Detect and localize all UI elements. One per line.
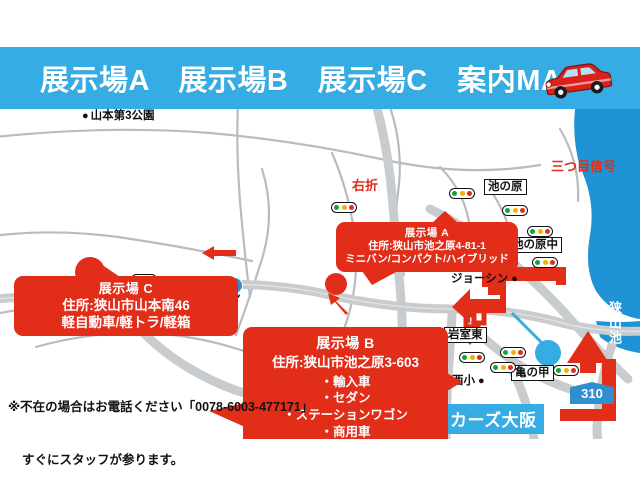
traffic-signal-west: [449, 188, 475, 199]
sayama-lake-shape: [574, 109, 640, 319]
route-310-shield: 310: [570, 382, 614, 404]
callout-showroom-a[interactable]: 展示場 A 住所:狭山市池之原4-81-1 ミニバン/コンパクト/ハイブリッド: [336, 222, 518, 272]
page-title: 展示場A 展示場B 展示場C 案内MAP: [40, 57, 582, 99]
note-line-2: すぐにスタッフが参ります。: [8, 452, 313, 470]
traffic-signal-iwamuro: [490, 362, 516, 373]
annotation-turn-right: 右折: [352, 175, 378, 194]
label-yamamoto-dai3-park: 山本第3公園: [82, 110, 155, 123]
traffic-signal-kamenoko: [553, 365, 579, 376]
red-car-icon: [538, 57, 616, 101]
annotation-third-signal: 三つ目信号: [551, 156, 616, 175]
callout-a-tail: [362, 271, 398, 285]
traffic-signal-ikenohara-naka-north: [527, 226, 553, 237]
callout-a-categories: ミニバン/コンパクト/ハイブリッド: [344, 253, 510, 266]
badge-cars-osaka[interactable]: カーズ大阪: [443, 404, 544, 434]
label-joshin: ジョーシン: [451, 273, 518, 286]
map-page: 展示場A 展示場B 展示場C 案内MAP: [0, 0, 640, 480]
arrow-west-small: [202, 246, 236, 260]
label-iwamuro-higashi: 岩室東: [444, 327, 487, 343]
callout-c-title: 展示場 C: [22, 281, 230, 297]
footer-notes: ※不在の場合はお電話ください「0078-6003-477171」 すぐにスタッフ…: [8, 363, 313, 480]
traffic-signal-post-office: [459, 352, 485, 363]
callout-c-categories: 軽自動車/軽トラ/軽箱: [22, 314, 230, 331]
traffic-signal-iwamuro-2: [500, 347, 526, 358]
traffic-signal-ikenohara-naka: [532, 257, 558, 268]
label-sayama-lake: 狭山池: [608, 301, 621, 346]
callout-a-title: 展示場 A: [344, 227, 510, 240]
callout-b-title: 展示場 B: [249, 335, 442, 353]
callout-a-tail-up: [432, 211, 458, 223]
header-banner: 展示場A 展示場B 展示場C 案内MAP: [0, 47, 640, 109]
callout-c-tail-up: [76, 262, 120, 277]
label-ikenohara: 池の原: [484, 179, 527, 195]
route-310-label: 310: [581, 386, 603, 401]
callout-b-tail-right: [447, 373, 462, 391]
label-kamenoko: 亀の甲: [511, 365, 554, 381]
marker-cars-osaka: [535, 340, 561, 366]
callout-showroom-c[interactable]: 展示場 C 住所:狭山市山本南46 軽自動車/軽トラ/軽箱: [14, 276, 238, 336]
pin-showroom-a: [325, 273, 347, 295]
traffic-signal-ikenohara: [502, 205, 528, 216]
callout-c-address: 住所:狭山市山本南46: [22, 297, 230, 314]
callout-a-address: 住所:狭山市池之原4-81-1: [344, 240, 510, 253]
traffic-signal-a-front: [331, 202, 357, 213]
note-line-1: ※不在の場合はお電話ください「0078-6003-477171」: [8, 399, 313, 417]
